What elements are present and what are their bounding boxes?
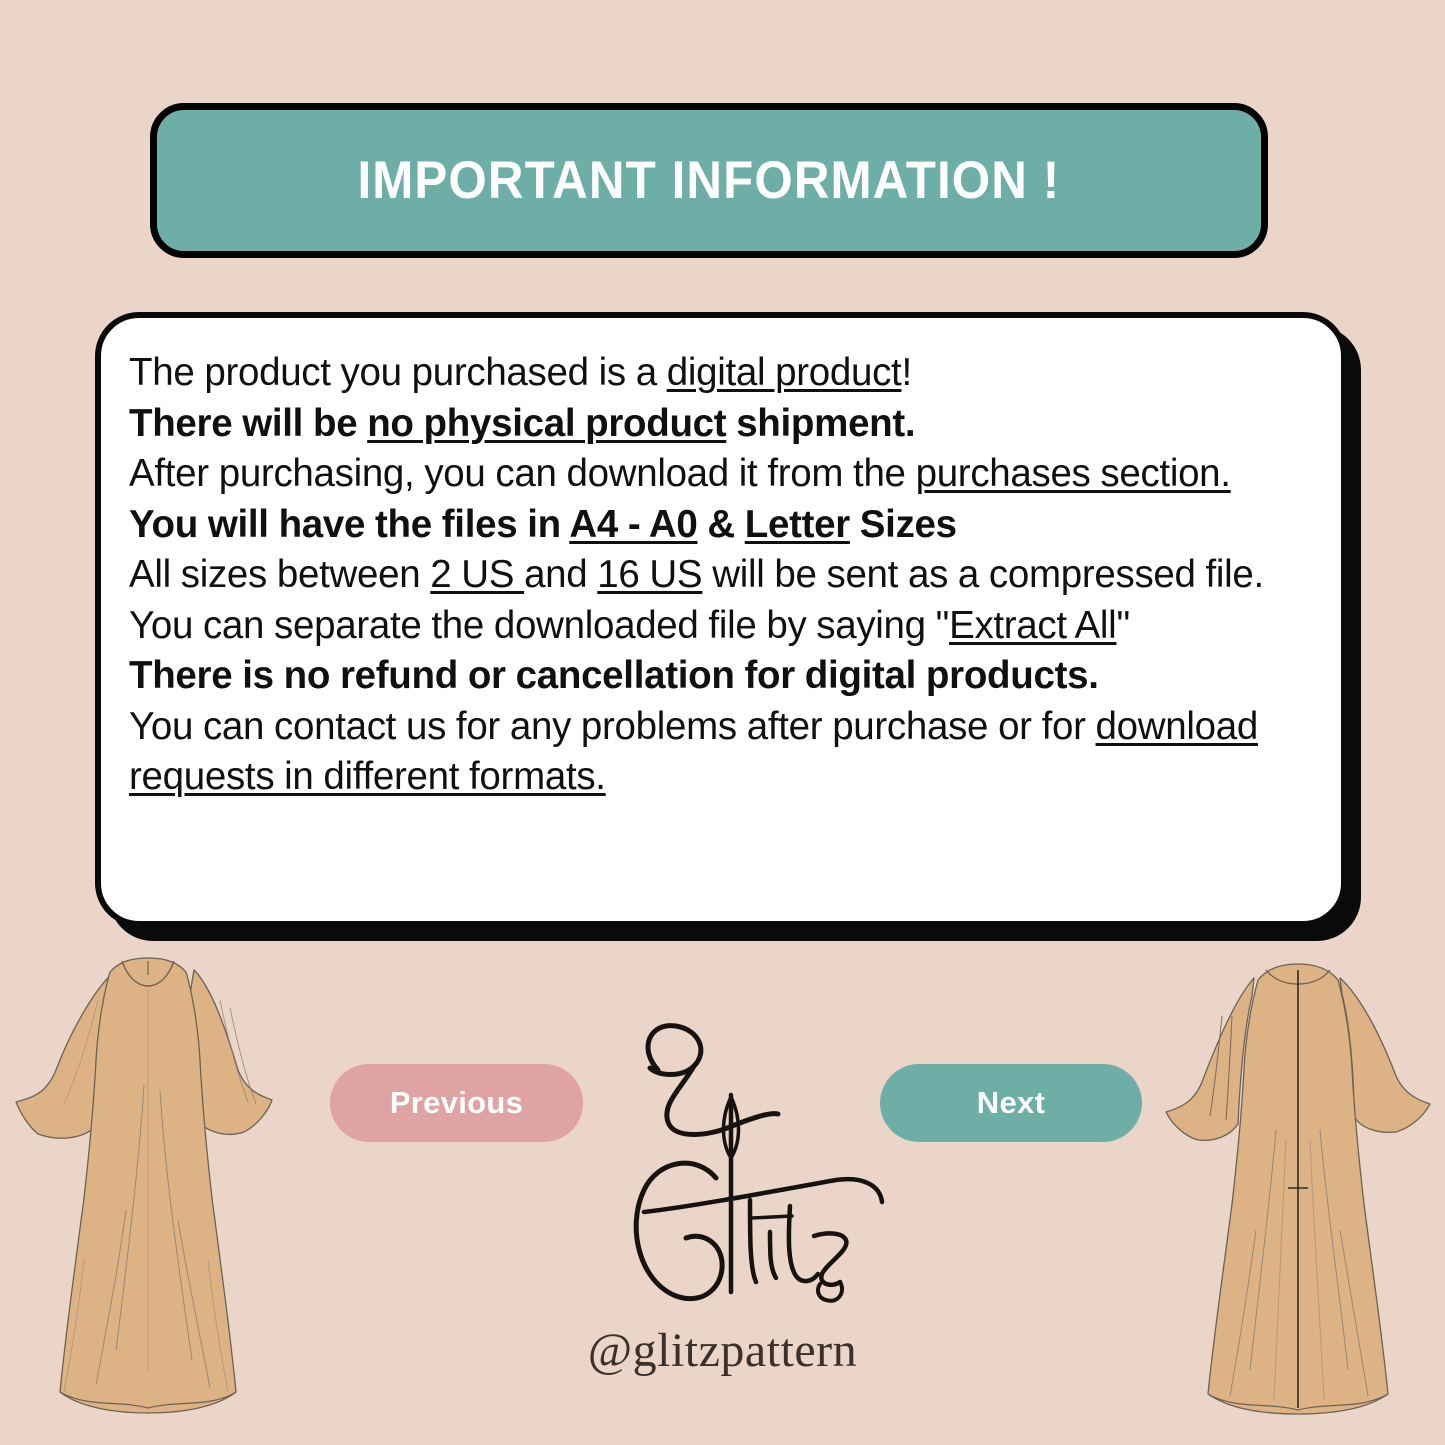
info-card: The product you purchased is a digital p… [95,312,1347,927]
next-button-label: Next [977,1085,1045,1121]
brand-handle: @glitzpattern [0,1323,1445,1378]
line-contact-us: You can contact us for any problems afte… [129,702,1313,803]
line-no-refund-bold: There is no refund or cancellation for d… [129,654,1099,697]
plain-text: There is no refund or cancellation for d… [129,654,1099,697]
underlined-text: Extract All [949,604,1116,647]
underlined-text: 16 US [597,553,702,596]
underlined-text: A4 - A0 [569,503,697,546]
line-purchases-section: After purchasing, you can download it fr… [129,449,1313,500]
plain-text: All sizes between [129,553,430,596]
important-information-banner: IMPORTANT INFORMATION ! [150,103,1268,258]
plain-text: You can contact us for any problems afte… [129,705,1096,748]
underlined-text: no physical product [367,402,726,445]
line-file-sizes-bold: You will have the files in A4 - A0 & Let… [129,503,957,546]
plain-text: " [1116,604,1129,647]
underlined-text: 2 US [430,553,524,596]
plain-text: The product you purchased is a [129,351,667,394]
plain-text: ! [901,351,911,394]
plain-text: Sizes [850,503,957,546]
plain-text: After purchasing, you can download it fr… [129,452,916,495]
plain-text: You will have the files in [129,503,569,546]
glitz-logo-svg [600,1000,900,1310]
banner-title: IMPORTANT INFORMATION ! [358,150,1061,211]
line-digital-product: The product you purchased is a digital p… [129,348,1313,399]
plain-text: and [524,553,597,596]
line-no-refund: There is no refund or cancellation for d… [129,651,1313,702]
line-no-physical-shipment: There will be no physical product shipme… [129,399,1313,450]
line-size-range-extract: All sizes between 2 US and 16 US will be… [129,550,1313,651]
underlined-text: purchases section. [916,452,1231,495]
previous-button[interactable]: Previous [330,1064,583,1142]
glitz-logo [600,1000,900,1310]
underlined-text: digital product [667,351,902,394]
info-card-text: The product you purchased is a digital p… [129,348,1313,803]
plain-text: & [697,503,744,546]
previous-button-label: Previous [390,1085,523,1121]
plain-text: There will be [129,402,367,445]
plain-text: shipment. [726,402,915,445]
underlined-text: Letter [745,503,850,546]
line-no-physical-shipment-bold: There will be no physical product shipme… [129,402,915,445]
line-file-sizes: You will have the files in A4 - A0 & Let… [129,500,1313,551]
next-button[interactable]: Next [880,1064,1142,1142]
